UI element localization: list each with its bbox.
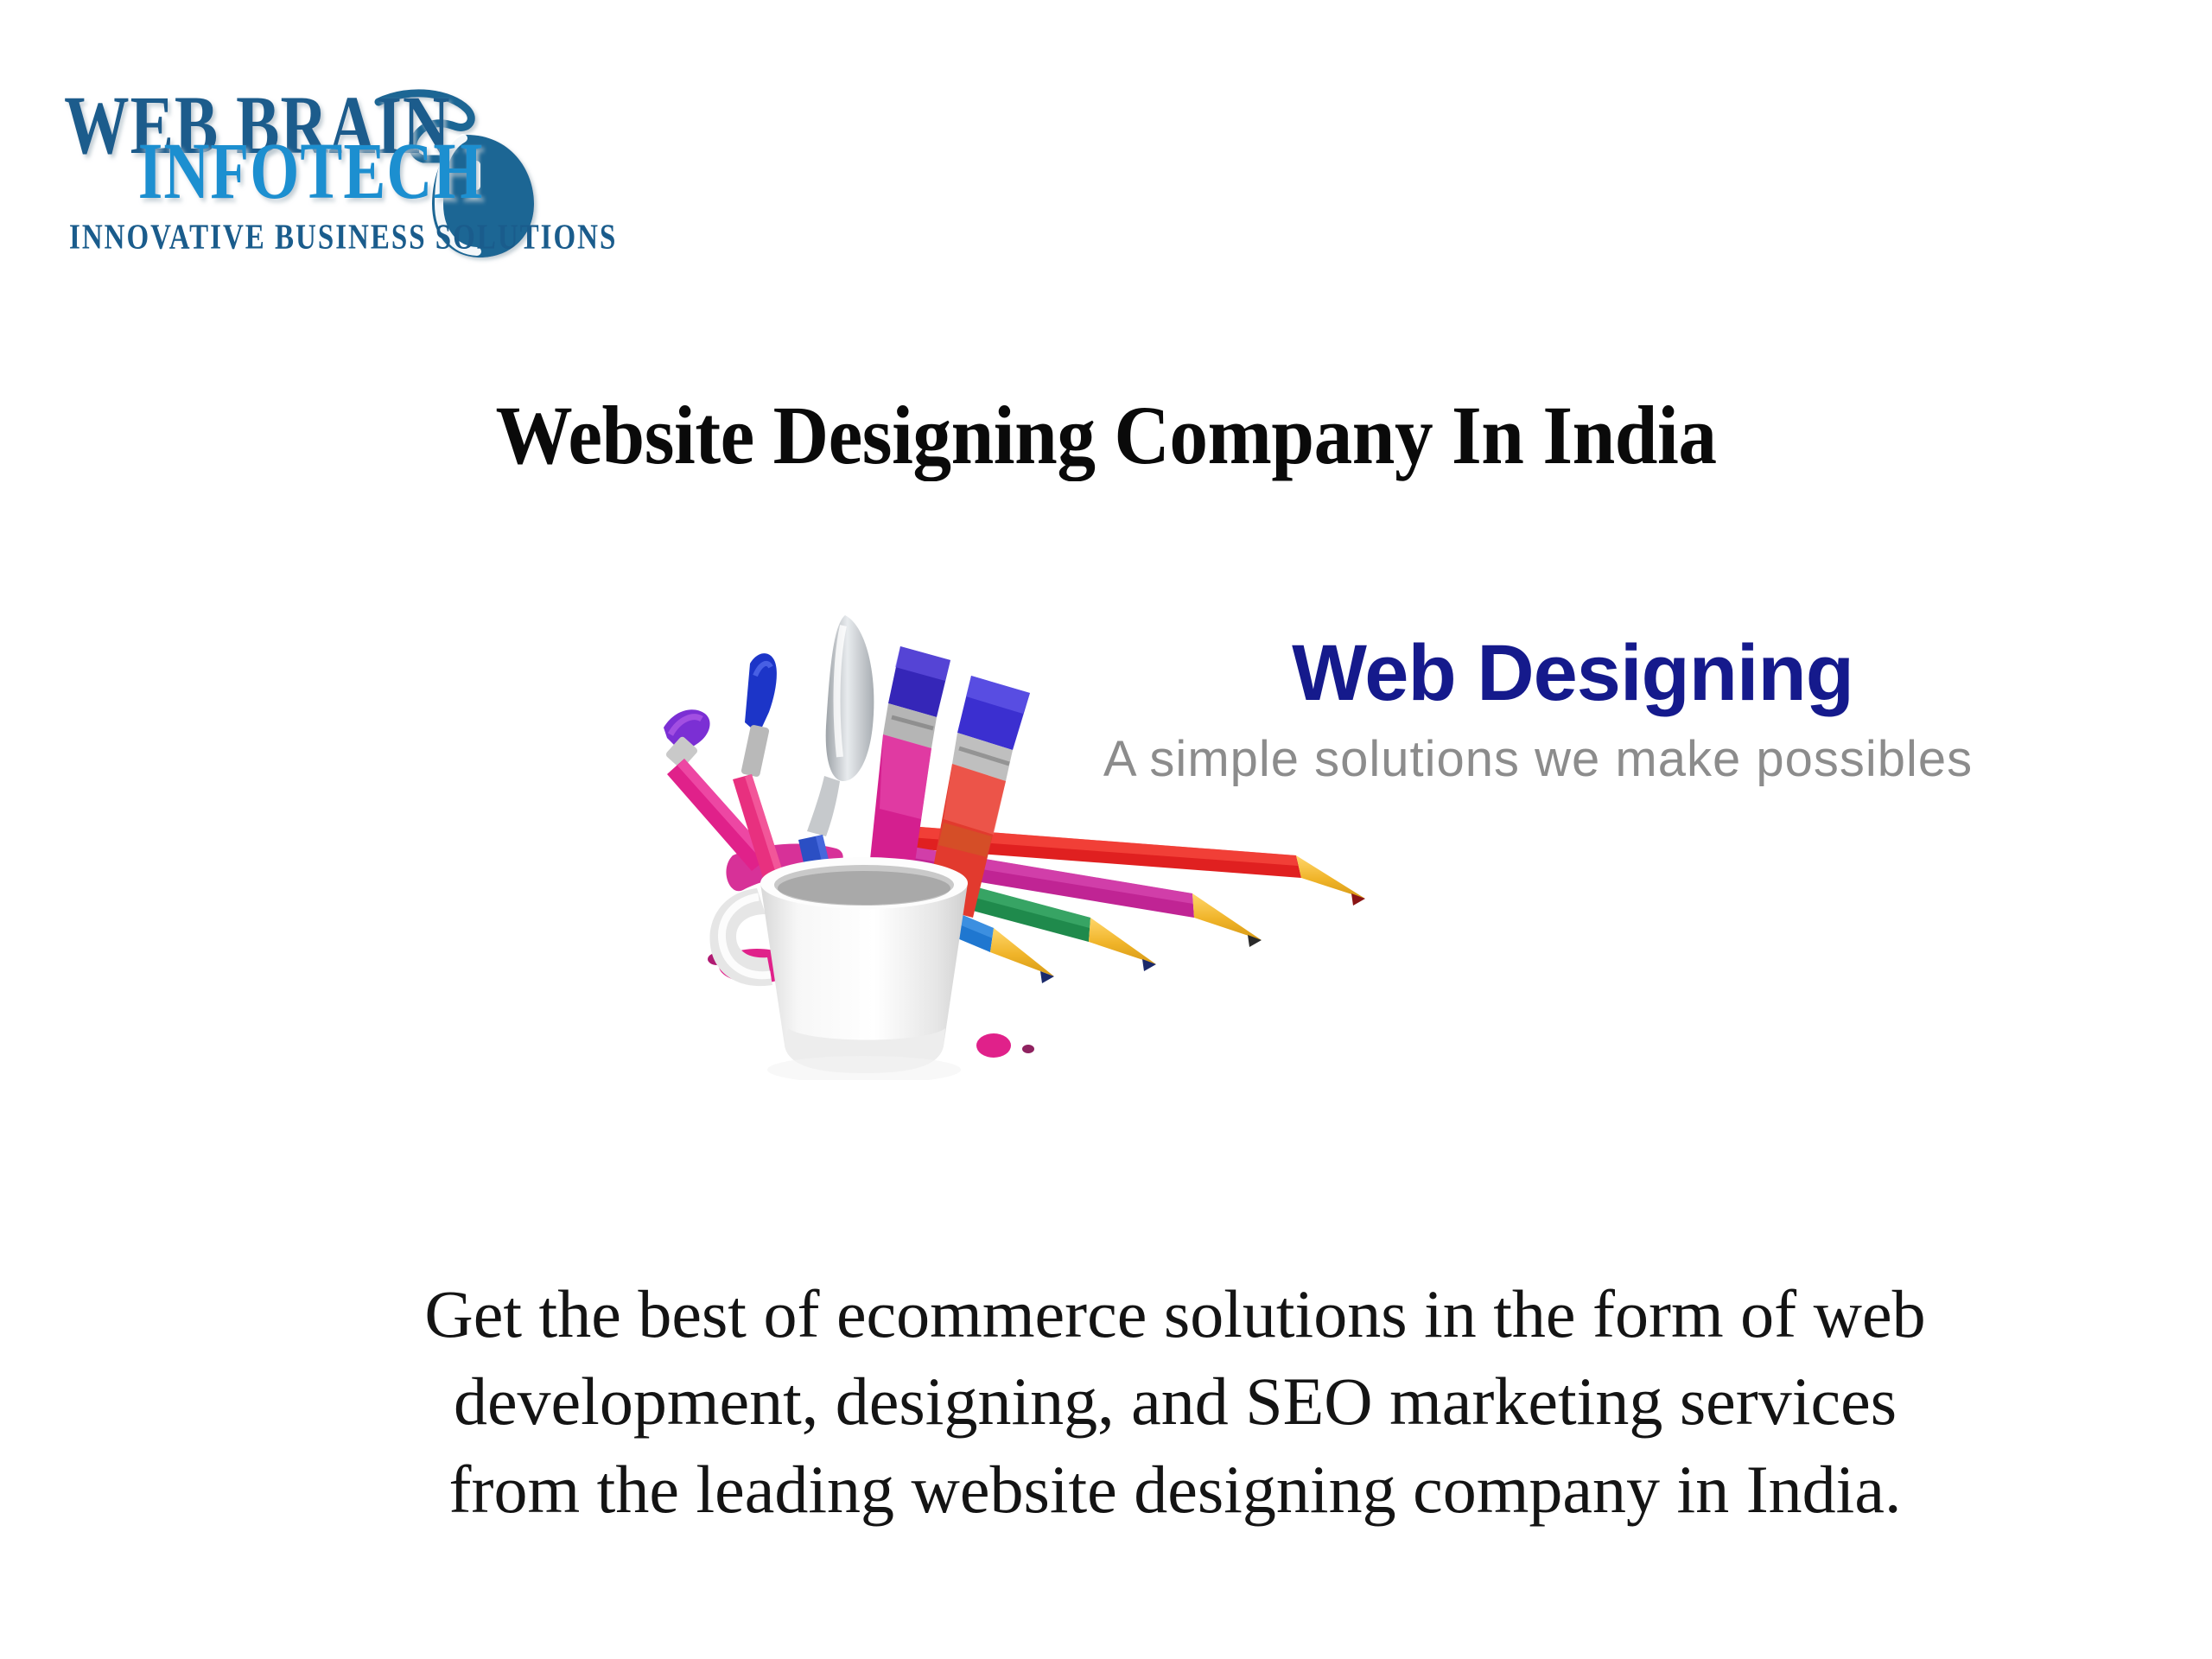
ceramic-mug (709, 857, 968, 1080)
logo-svg: WEB BRAIN INFOTECH INNOVATIVE BUSINESS S… (60, 52, 631, 268)
page-title: Website Designing Company In India (78, 391, 2135, 480)
illustration-heading: Web Designing (1292, 629, 1853, 717)
presentation-slide: WEB BRAIN INFOTECH INNOVATIVE BUSINESS S… (0, 0, 2212, 1659)
body-paragraph: Get the best of ecommerce solutions in t… (294, 1270, 2056, 1533)
company-logo: WEB BRAIN INFOTECH INNOVATIVE BUSINESS S… (60, 52, 631, 268)
body-line-1: Get the best of ecommerce solutions in t… (294, 1270, 2056, 1357)
illustration-subheading: A simple solutions we make possibles (1103, 731, 1973, 787)
illustration-svg: Web Designing A simple solutions we make… (588, 596, 2022, 1080)
logo-tagline: INNOVATIVE BUSINESS SOLUTIONS (69, 218, 617, 257)
paint-splash-front (976, 1033, 1034, 1058)
web-designing-wordmark: Web Designing A simple solutions we make… (1103, 629, 1973, 787)
logo-line2: INFOTECH (138, 127, 484, 216)
body-line-2: development, designing, and SEO marketin… (294, 1357, 2056, 1445)
body-line-3: from the leading website designing compa… (294, 1446, 2056, 1533)
web-designing-illustration: Web Designing A simple solutions we make… (588, 596, 2022, 1080)
